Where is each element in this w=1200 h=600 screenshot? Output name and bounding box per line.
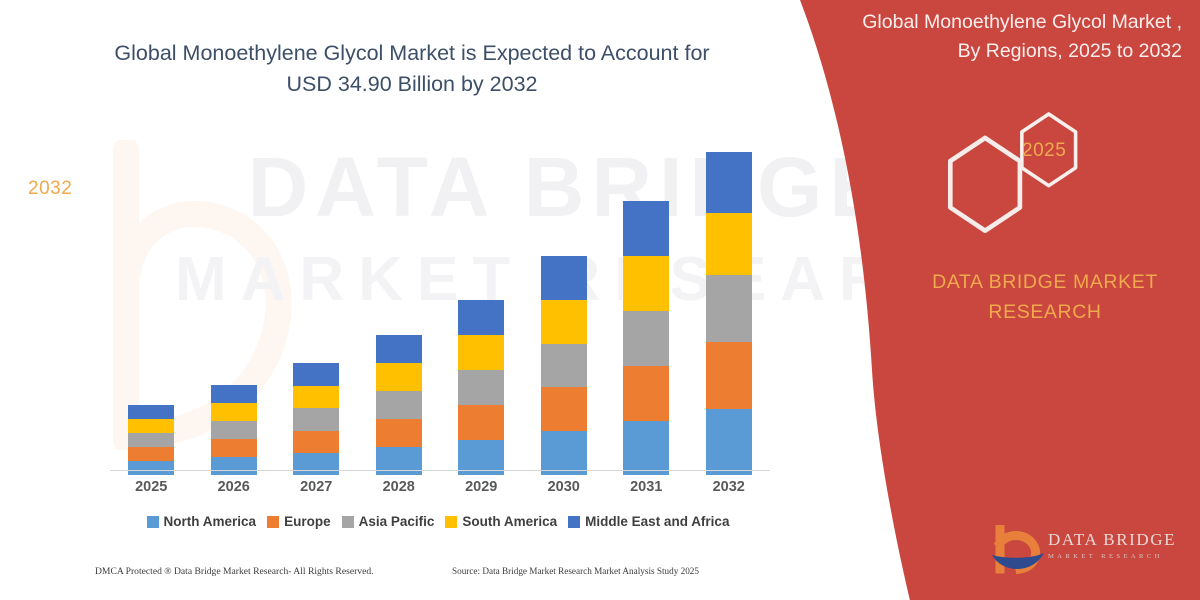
segment-middle-east-and-africa (541, 256, 587, 300)
segment-north-america (128, 461, 174, 475)
hexagon-group (930, 106, 1110, 236)
legend-label: South America (462, 514, 557, 529)
segment-north-america (706, 409, 752, 475)
segment-south-america (376, 363, 422, 391)
segment-south-america (706, 213, 752, 275)
segment-middle-east-and-africa (458, 300, 504, 335)
dmca-notice: DMCA Protected ® Data Bridge Market Rese… (95, 566, 374, 577)
segment-middle-east-and-africa (376, 335, 422, 363)
segment-europe (293, 431, 339, 453)
segment-south-america (128, 419, 174, 433)
bar-2032 (706, 152, 752, 475)
x-label-2027: 2027 (286, 479, 346, 495)
legend-label: Asia Pacific (359, 514, 435, 529)
segment-middle-east-and-africa (623, 201, 669, 256)
x-label-2030: 2030 (534, 479, 594, 495)
bar-2030 (541, 256, 587, 475)
segment-north-america (541, 431, 587, 475)
segment-middle-east-and-africa (293, 363, 339, 386)
logo-wordmark: DATA BRIDGE MARKET RESEARCH (1048, 531, 1188, 560)
segment-europe (211, 439, 257, 457)
x-axis-line (110, 470, 770, 471)
segment-middle-east-and-africa (128, 405, 174, 419)
brand-name-line-1: DATA BRIDGE MARKET (932, 271, 1158, 293)
logo-name: DATA BRIDGE (1048, 531, 1188, 550)
x-axis-labels: 20252026202720282029203020312032 (110, 479, 770, 503)
segment-europe (128, 447, 174, 461)
data-bridge-logo-icon (988, 525, 1050, 577)
company-logo: DATA BRIDGE MARKET RESEARCH (988, 525, 1188, 581)
segment-europe (541, 387, 587, 431)
legend-swatch (445, 516, 457, 528)
footer: DMCA Protected ® Data Bridge Market Rese… (0, 566, 800, 588)
legend-item-south-america: South America (445, 514, 557, 529)
infographic-canvas: DATA BRIDGE MARKET RESEARCH Global Monoe… (0, 0, 1200, 600)
segment-asia-pacific (128, 433, 174, 447)
segment-asia-pacific (458, 370, 504, 405)
segment-middle-east-and-africa (211, 385, 257, 403)
bar-2028 (376, 335, 422, 475)
segment-middle-east-and-africa (706, 152, 752, 213)
segment-asia-pacific (376, 391, 422, 419)
legend-label: Europe (284, 514, 331, 529)
bar-2029 (458, 300, 504, 475)
legend-swatch (342, 516, 354, 528)
page-title: Global Monoethylene Glycol Market is Exp… (92, 38, 732, 99)
hexagon-label-end: 2025 (1022, 140, 1066, 162)
legend-item-north-america: North America (147, 514, 257, 529)
bar-2031 (623, 201, 669, 475)
legend-swatch (568, 516, 580, 528)
panel-title: Global Monoethylene Glycol Market , By R… (812, 8, 1182, 67)
segment-south-america (211, 403, 257, 421)
legend-swatch (267, 516, 279, 528)
segment-south-america (623, 256, 669, 311)
logo-tagline: MARKET RESEARCH (1048, 553, 1188, 560)
legend-item-asia-pacific: Asia Pacific (342, 514, 435, 529)
segment-north-america (211, 457, 257, 475)
brand-name: DATA BRIDGE MARKET RESEARCH (900, 268, 1190, 327)
segment-europe (706, 342, 752, 409)
x-label-2026: 2026 (204, 479, 264, 495)
segment-south-america (293, 386, 339, 408)
legend-label: Middle East and Africa (585, 514, 729, 529)
x-label-2028: 2028 (369, 479, 429, 495)
hexagon-outlines-icon (930, 106, 1110, 236)
stacked-bar-chart (110, 145, 770, 475)
page-title-line-2: USD 34.90 Billion by 2032 (287, 72, 538, 96)
segment-south-america (458, 335, 504, 370)
segment-europe (458, 405, 504, 440)
x-label-2029: 2029 (451, 479, 511, 495)
x-label-2032: 2032 (699, 479, 759, 495)
brand-name-line-2: RESEARCH (988, 301, 1101, 323)
bar-2027 (293, 363, 339, 475)
legend-swatch (147, 516, 159, 528)
legend-label: North America (164, 514, 257, 529)
panel-title-line-2: By Regions, 2025 to 2032 (812, 37, 1182, 66)
segment-europe (376, 419, 422, 447)
segment-asia-pacific (293, 408, 339, 431)
segment-asia-pacific (541, 344, 587, 387)
hexagon-label-start: 2032 (28, 178, 72, 200)
segment-asia-pacific (623, 311, 669, 366)
legend-item-europe: Europe (267, 514, 331, 529)
bar-2025 (128, 405, 174, 475)
segment-south-america (541, 300, 587, 344)
segment-europe (623, 366, 669, 421)
bar-2026 (211, 385, 257, 475)
segment-asia-pacific (211, 421, 257, 439)
chart-legend: North AmericaEuropeAsia PacificSouth Ame… (108, 514, 768, 529)
segment-asia-pacific (706, 275, 752, 342)
x-label-2025: 2025 (121, 479, 181, 495)
panel-title-line-1: Global Monoethylene Glycol Market , (862, 11, 1182, 33)
x-label-2031: 2031 (616, 479, 676, 495)
segment-north-america (293, 453, 339, 475)
legend-item-middle-east-and-africa: Middle East and Africa (568, 514, 729, 529)
segment-north-america (623, 421, 669, 475)
page-title-line-1: Global Monoethylene Glycol Market is Exp… (114, 41, 709, 65)
source-note: Source: Data Bridge Market Research Mark… (452, 566, 699, 576)
